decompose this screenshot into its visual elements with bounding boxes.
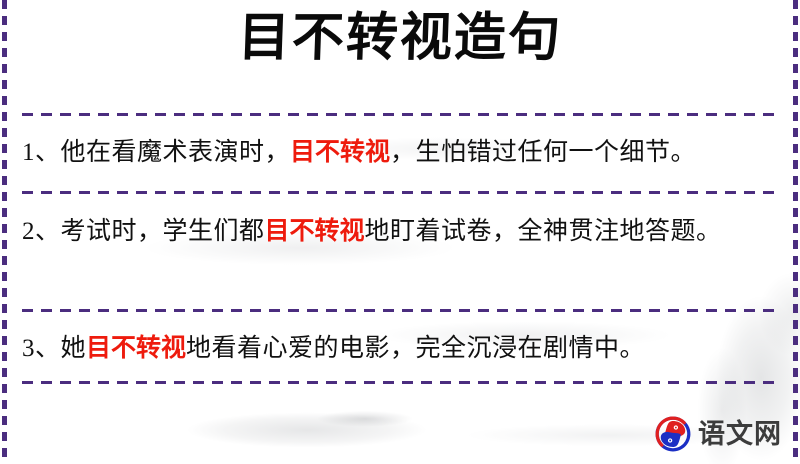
sentence-1-seg-1: 1、他在看魔术表演时，: [22, 139, 290, 166]
page-title: 目不转视造句: [237, 8, 563, 69]
sentence-1: 1、他在看魔术表演时，目不转视，生怕错过任何一个细节。: [22, 133, 774, 173]
left-dashed-border: [2, 0, 7, 464]
divider-4: [22, 381, 778, 384]
sentence-2-seg-1: 2、考试时，学生们都: [22, 218, 265, 245]
sentence-2: 2、考试时，学生们都目不转视地盯着试卷，全神贯注地答题。: [22, 212, 774, 252]
site-logo[interactable]: 语文网: [655, 414, 782, 454]
divider-2: [22, 191, 778, 194]
slide-page: 目不转视造句 1、他在看魔术表演时，目不转视，生怕错过任何一个细节。 2、考试时…: [0, 0, 800, 464]
sentence-3-keyword: 目不转视: [86, 335, 186, 362]
sentence-3: 3、她目不转视地看着心爱的电影，完全沉浸在剧情中。: [22, 329, 774, 369]
title-area: 目不转视造句: [0, 8, 800, 69]
watermark-boat: [120, 395, 460, 464]
right-dashed-border: [793, 0, 798, 464]
sentence-3-seg-1: 3、她: [22, 335, 86, 362]
sentence-1-seg-2: ，生怕错过任何一个细节。: [390, 139, 696, 166]
sentence-2-seg-2: 地盯着试卷，全神贯注地答题。: [365, 218, 722, 245]
site-logo-text: 语文网: [698, 421, 782, 448]
yinyang-fish-logo-icon: [655, 416, 691, 452]
sentence-2-keyword: 目不转视: [265, 218, 365, 245]
divider-1: [22, 113, 778, 116]
sentence-3-seg-2: 地看着心爱的电影，完全沉浸在剧情中。: [186, 335, 645, 362]
sentence-1-keyword: 目不转视: [290, 139, 390, 166]
divider-3: [22, 309, 778, 312]
